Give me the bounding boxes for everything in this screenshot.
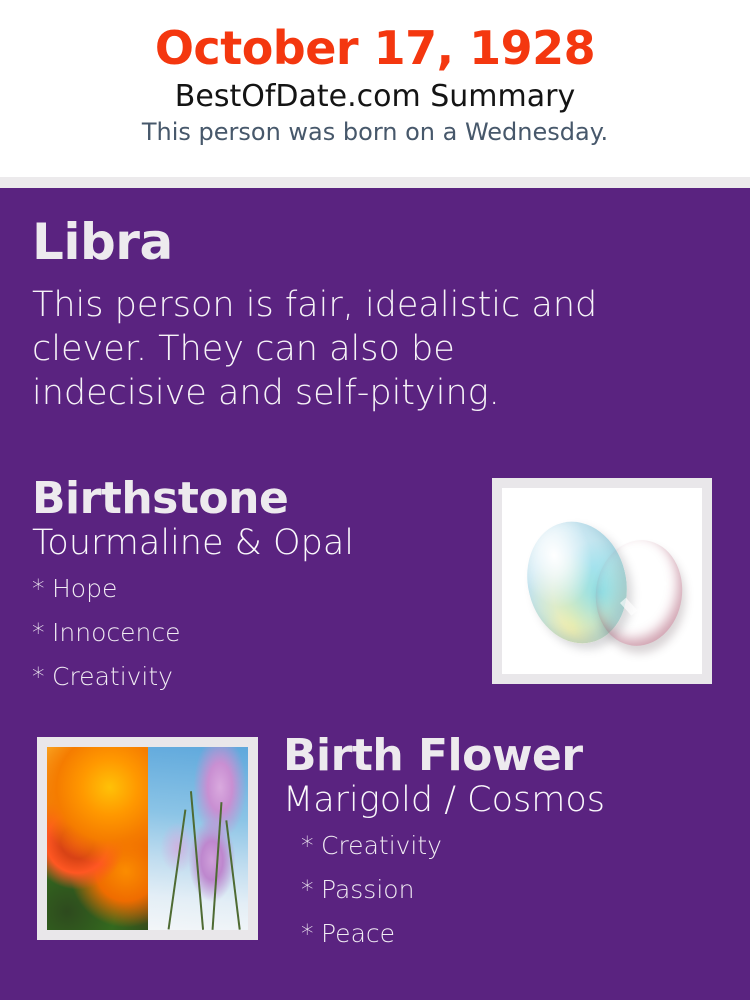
zodiac-section: Libra This person is fair, idealistic an… <box>32 216 632 415</box>
list-item: *Creativity <box>32 664 472 708</box>
page-title-date: October 17, 1928 <box>0 24 750 74</box>
bullet-star-icon: * <box>301 877 321 902</box>
flower-stem <box>225 820 240 929</box>
birthstone-image <box>502 488 702 674</box>
bullet-star-icon: * <box>32 620 52 645</box>
list-item: *Innocence <box>32 620 472 664</box>
birth-flower-trait-label: Peace <box>321 919 395 948</box>
flower-stem <box>167 810 186 930</box>
birthstone-section: Birthstone Tourmaline & Opal *Hope *Inno… <box>32 476 472 708</box>
bullet-star-icon: * <box>301 921 321 946</box>
birthstone-trait-list: *Hope *Innocence *Creativity <box>32 576 472 708</box>
born-weekday-text: This person was born on a Wednesday. <box>0 119 750 146</box>
bullet-star-icon: * <box>301 833 321 858</box>
birthstone-trait-label: Creativity <box>52 662 173 691</box>
zodiac-description: This person is fair, idealistic and clev… <box>32 283 612 415</box>
birthstone-trait-label: Hope <box>52 574 117 603</box>
cosmos-photo-icon <box>148 747 249 930</box>
flower-stem <box>211 802 222 930</box>
list-item: *Creativity <box>301 833 723 877</box>
gem-facet-highlight <box>645 568 668 592</box>
birth-flower-image <box>47 747 248 930</box>
summary-page: October 17, 1928 BestOfDate.com Summary … <box>0 0 750 1000</box>
site-summary-subtitle: BestOfDate.com Summary <box>0 80 750 114</box>
list-item: *Hope <box>32 576 472 620</box>
bullet-star-icon: * <box>32 576 52 601</box>
zodiac-sign-name: Libra <box>32 216 632 269</box>
birth-flower-heading: Birth Flower <box>283 733 723 779</box>
birthstone-trait-label: Innocence <box>52 618 180 647</box>
marigold-photo-icon <box>47 747 148 930</box>
birthstone-names: Tourmaline & Opal <box>32 523 472 564</box>
flower-stem <box>190 791 204 930</box>
list-item: *Passion <box>301 877 723 921</box>
birth-flower-names: Marigold / Cosmos <box>283 780 723 821</box>
birth-flower-trait-label: Creativity <box>321 831 442 860</box>
details-panel: Libra This person is fair, idealistic an… <box>0 188 750 1000</box>
birth-flower-trait-list: *Creativity *Passion *Peace <box>283 833 723 965</box>
list-item: *Peace <box>301 921 723 965</box>
birth-flower-section: Birth Flower Marigold / Cosmos *Creativi… <box>283 733 723 965</box>
birthstone-image-frame <box>492 478 712 684</box>
birthstone-heading: Birthstone <box>32 476 472 522</box>
gem-facet-highlight <box>620 597 638 615</box>
page-header: October 17, 1928 BestOfDate.com Summary … <box>0 0 750 177</box>
header-divider <box>0 177 750 188</box>
birth-flower-image-frame <box>37 737 258 940</box>
bullet-star-icon: * <box>32 664 52 689</box>
birth-flower-trait-label: Passion <box>321 875 414 904</box>
